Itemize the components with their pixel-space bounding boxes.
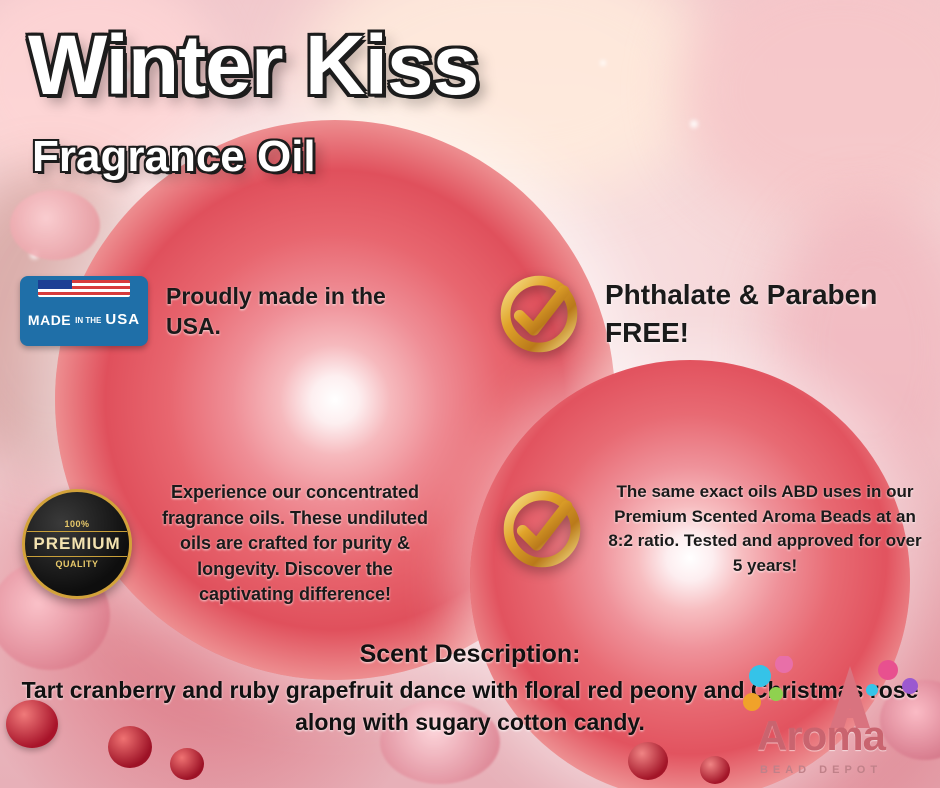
premium-badge-mid-label: PREMIUM xyxy=(27,531,126,557)
usa-flag-badge-icon: MADE IN THE USA xyxy=(20,276,148,346)
product-graphic: Winter Kiss Fragrance Oil MADE IN THE US… xyxy=(0,0,940,788)
feature-made-in-usa: MADE IN THE USA Proudly made in the USA. xyxy=(20,276,420,346)
logo-tagline: BEAD DEPOT xyxy=(716,764,926,776)
gold-checkmark-icon xyxy=(495,270,583,358)
feature-premium-quality-text: Experience our concentrated fragrance oi… xyxy=(148,480,442,608)
cranberry-image xyxy=(628,742,668,780)
feature-phthalate-paraben-free: Phthalate & Paraben FREE! xyxy=(495,270,925,358)
page-subtitle: Fragrance Oil xyxy=(32,132,316,182)
feature-premium-quality: 100% PREMIUM QUALITY Experience our conc… xyxy=(22,480,442,608)
premium-badge-top-label: 100% xyxy=(64,519,89,529)
feature-abd-same-oils: The same exact oils ABD uses in our Prem… xyxy=(498,480,928,579)
usa-badge-made-label: MADE xyxy=(28,312,71,328)
page-title: Winter Kiss xyxy=(28,26,478,106)
premium-badge-bottom-label: QUALITY xyxy=(56,559,99,569)
usa-badge-usa-label: USA xyxy=(105,311,140,328)
feature-made-in-usa-text: Proudly made in the USA. xyxy=(166,281,420,342)
cranberry-image xyxy=(170,748,204,780)
brand-logo: Aroma BEAD DEPOT xyxy=(716,662,926,782)
flag-union-icon xyxy=(38,280,72,289)
logo-brand-name: Aroma xyxy=(716,712,926,760)
feature-abd-same-oils-text: The same exact oils ABD uses in our Prem… xyxy=(602,480,928,579)
premium-quality-seal-icon: 100% PREMIUM QUALITY xyxy=(22,489,132,599)
feature-phthalate-paraben-free-text: Phthalate & Paraben FREE! xyxy=(605,276,925,352)
gold-checkmark-icon xyxy=(498,485,586,573)
sparkle-icon xyxy=(600,60,606,66)
usa-badge-inthe-label: IN THE xyxy=(75,316,101,325)
flower-petal-image xyxy=(10,190,100,260)
background-bokeh xyxy=(680,0,940,220)
sparkle-icon xyxy=(690,120,698,128)
